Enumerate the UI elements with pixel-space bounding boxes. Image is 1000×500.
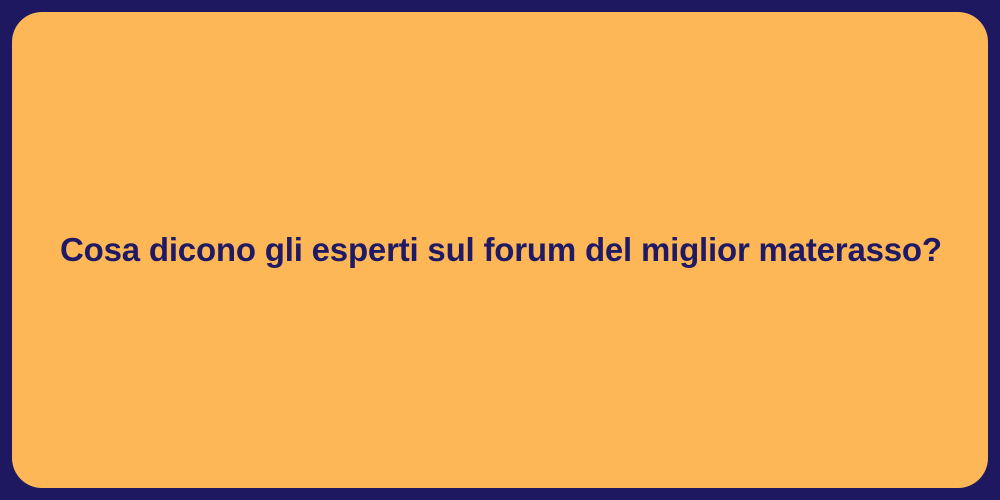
page-background: Cosa dicono gli esperti sul forum del mi… xyxy=(0,0,1000,500)
page-title: Cosa dicono gli esperti sul forum del mi… xyxy=(60,229,940,270)
headline-card: Cosa dicono gli esperti sul forum del mi… xyxy=(12,12,988,488)
